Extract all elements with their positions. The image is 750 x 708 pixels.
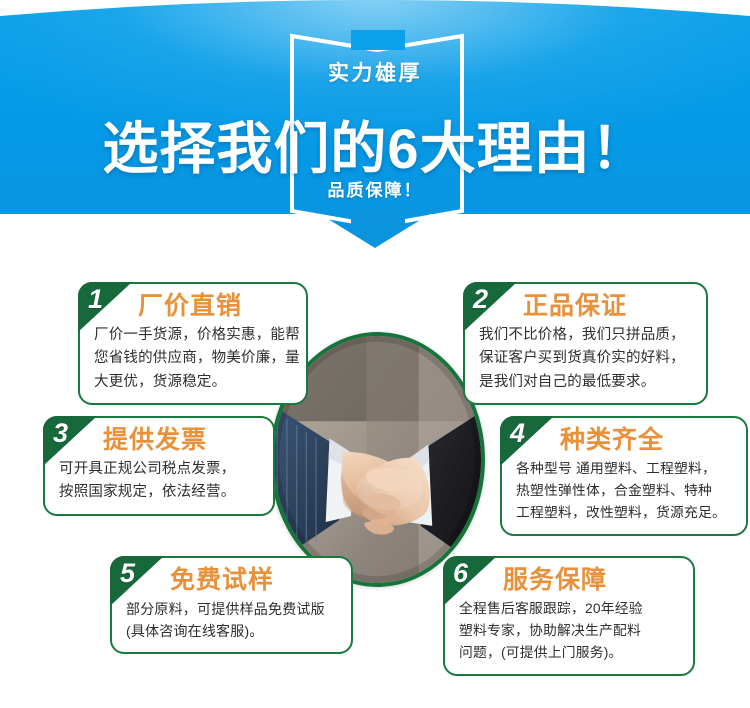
reason-heading-5: 免费试样 [170, 566, 339, 595]
reason-body-2: 我们不比价格，我们只拼品质， 保证客户买到货真价实的好料， 是我们对自己的最低要… [479, 324, 694, 394]
reason-body-line: 按照国家规定，依法经营。 [59, 481, 261, 504]
reason-card-6[interactable]: 6 服务保障 全程售后客服跟踪，20年经验 塑料专家，协助解决生产配料 问题，(… [443, 556, 695, 676]
reason-body-line: 厂价一手货源，价格实惠，能帮 [94, 324, 294, 347]
reason-card-2[interactable]: 2 正品保证 我们不比价格，我们只拼品质， 保证客户买到货真价实的好料， 是我们… [463, 282, 708, 405]
reason-body-line: 您省钱的供应商，物美价廉，量 [94, 347, 294, 370]
reason-body-line: 工程塑料，改性塑料，货源充足。 [516, 502, 734, 524]
reason-body-1: 厂价一手货源，价格实惠，能帮 您省钱的供应商，物美价廉，量 大更优，货源稳定。 [94, 324, 294, 394]
reason-body-line: 可开具正规公司税点发票， [59, 458, 261, 481]
hero-banner: 实力雄厚 选择我们的6大理由！ 品质保障！ [0, 0, 750, 248]
reason-body-line: (具体咨询在线客服)。 [126, 620, 339, 643]
reason-number-6: 6 [453, 560, 468, 587]
reason-body-line: 塑料专家，协助解决生产配料 [459, 620, 681, 642]
reason-heading-1: 厂价直销 [138, 292, 294, 321]
reason-body-line: 部分原料，可提供样品免费试版 [126, 598, 339, 621]
reason-number-2: 2 [473, 286, 488, 313]
reasons-section: 1 厂价直销 厂价一手货源，价格实惠，能帮 您省钱的供应商，物美价廉，量 大更优… [0, 248, 750, 708]
reason-body-3: 可开具正规公司税点发票， 按照国家规定，依法经营。 [59, 458, 261, 505]
reason-number-5: 5 [120, 560, 135, 587]
reason-body-line: 大更优，货源稳定。 [94, 371, 294, 394]
reason-heading-3: 提供发票 [103, 426, 261, 455]
reason-card-5[interactable]: 5 免费试样 部分原料，可提供样品免费试版 (具体咨询在线客服)。 [110, 556, 353, 654]
reason-number-4: 4 [510, 420, 525, 447]
reason-body-line: 热塑性弹性体，合金塑料、特种 [516, 480, 734, 502]
reason-heading-6: 服务保障 [503, 566, 681, 595]
reason-body-6: 全程售后客服跟踪，20年经验 塑料专家，协助解决生产配料 问题，(可提供上门服务… [459, 598, 681, 665]
reason-card-1[interactable]: 1 厂价直销 厂价一手货源，价格实惠，能帮 您省钱的供应商，物美价廉，量 大更优… [78, 282, 308, 405]
reason-body-line: 问题，(可提供上门服务)。 [459, 642, 681, 664]
reason-body-line: 各种型号 通用塑料、工程塑料， [516, 458, 734, 480]
banner-eyebrow: 实力雄厚 [0, 57, 750, 87]
reason-card-3[interactable]: 3 提供发票 可开具正规公司税点发票， 按照国家规定，依法经营。 [43, 416, 275, 516]
banner-subtitle: 品质保障！ [0, 176, 750, 201]
banner-title: 选择我们的6大理由！ [0, 104, 750, 185]
reason-body-line: 保证客户买到货真价实的好料， [479, 347, 694, 370]
reason-body-line: 全程售后客服跟踪，20年经验 [459, 598, 681, 620]
reason-body-line: 是我们对自己的最低要求。 [479, 371, 694, 394]
reason-number-3: 3 [53, 420, 68, 447]
reason-body-5: 部分原料，可提供样品免费试版 (具体咨询在线客服)。 [126, 598, 339, 643]
reason-number-1: 1 [88, 286, 103, 313]
reason-heading-2: 正品保证 [523, 292, 694, 321]
reason-heading-4: 种类齐全 [560, 426, 734, 455]
reason-card-4[interactable]: 4 种类齐全 各种型号 通用塑料、工程塑料， 热塑性弹性体，合金塑料、特种 工程… [500, 416, 748, 536]
reason-body-4: 各种型号 通用塑料、工程塑料， 热塑性弹性体，合金塑料、特种 工程塑料，改性塑料… [516, 458, 734, 525]
reason-body-line: 我们不比价格，我们只拼品质， [479, 324, 694, 347]
